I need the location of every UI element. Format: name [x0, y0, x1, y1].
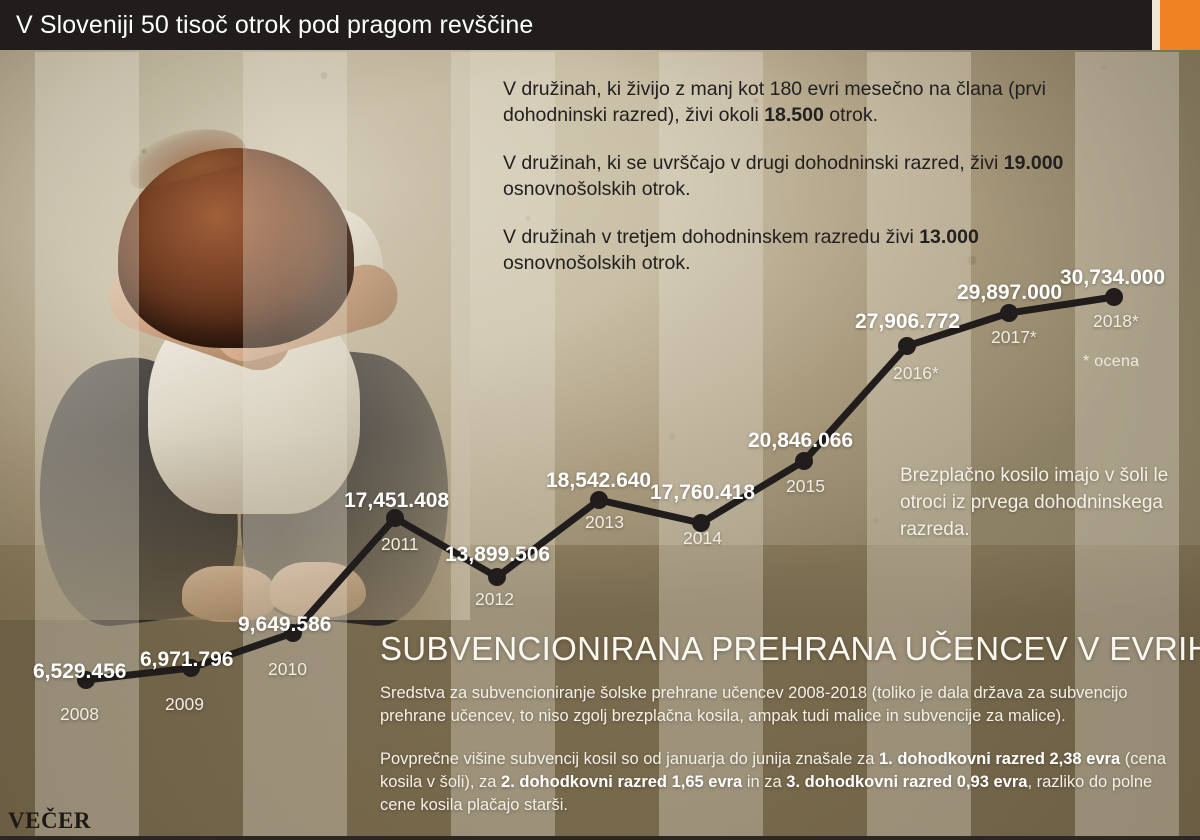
- chart-year-label: 2015: [786, 476, 825, 497]
- chart-year-label: 2012: [475, 589, 514, 610]
- page-title: V Sloveniji 50 tisoč otrok pod pragom re…: [0, 11, 533, 40]
- chart-year-label: 2018*: [1093, 311, 1139, 332]
- chart-value-label: 6,529.456: [33, 660, 126, 684]
- chart-value-label: 17,760.418: [650, 481, 755, 505]
- chart-footnote: * ocena: [1083, 353, 1139, 371]
- chart-year-label: 2011: [381, 534, 419, 555]
- chart-value-label: 17,451.408: [344, 489, 449, 513]
- chart-year-label: 2010: [268, 659, 307, 680]
- chart-value-label: 13,899.506: [445, 543, 550, 567]
- intro-paragraph-2: V družinah, ki se uvrščajo v drugi dohod…: [503, 150, 1083, 202]
- intro-paragraph-3: V družinah v tretjem dohodninskem razred…: [503, 224, 1083, 276]
- bottom-text-block: SUBVENCIONIRANA PREHRANA UČENCEV V EVRIH…: [380, 630, 1180, 817]
- chart-year-label: 2016*: [893, 363, 939, 384]
- chart-year-label: 2014: [683, 528, 722, 549]
- column-band: [243, 52, 347, 840]
- chart-value-label: 6,971.796: [140, 648, 233, 672]
- chart-value-label: 9,649.586: [238, 613, 331, 637]
- header-bar: V Sloveniji 50 tisoč otrok pod pragom re…: [0, 0, 1152, 50]
- chart-year-label: 2017*: [991, 327, 1037, 348]
- chart-value-label: 27,906.772: [855, 310, 960, 334]
- chart-value-label: 20,846.066: [748, 429, 853, 453]
- vecer-logo: VEČER: [8, 808, 91, 834]
- chart-value-label: 29,897.000: [957, 281, 1062, 305]
- callout-text: Brezplačno kosilo imajo v šoli le otroci…: [900, 462, 1190, 543]
- header-accent-gap: [1152, 0, 1160, 50]
- header-accent-block: [1160, 0, 1200, 50]
- infographic-root: V Sloveniji 50 tisoč otrok pod pragom re…: [0, 0, 1200, 840]
- subsidy-detail-paragraph: Povprečne višine subvencij kosil so od j…: [380, 748, 1180, 817]
- chart-year-label: 2009: [165, 694, 204, 715]
- chart-value-label: 30,734.000: [1060, 266, 1165, 290]
- chart-description: Sredstva za subvencioniranje šolske preh…: [380, 682, 1180, 728]
- intro-text-block: V družinah, ki živijo z manj kot 180 evr…: [503, 76, 1083, 298]
- chart-year-label: 2013: [585, 512, 624, 533]
- chart-value-label: 18,542.640: [546, 469, 651, 493]
- chart-year-label: 2008: [60, 704, 99, 725]
- bottom-rule: [0, 836, 1200, 840]
- intro-paragraph-1: V družinah, ki živijo z manj kot 180 evr…: [503, 76, 1083, 128]
- chart-title: SUBVENCIONIRANA PREHRANA UČENCEV V EVRIH: [380, 630, 1180, 668]
